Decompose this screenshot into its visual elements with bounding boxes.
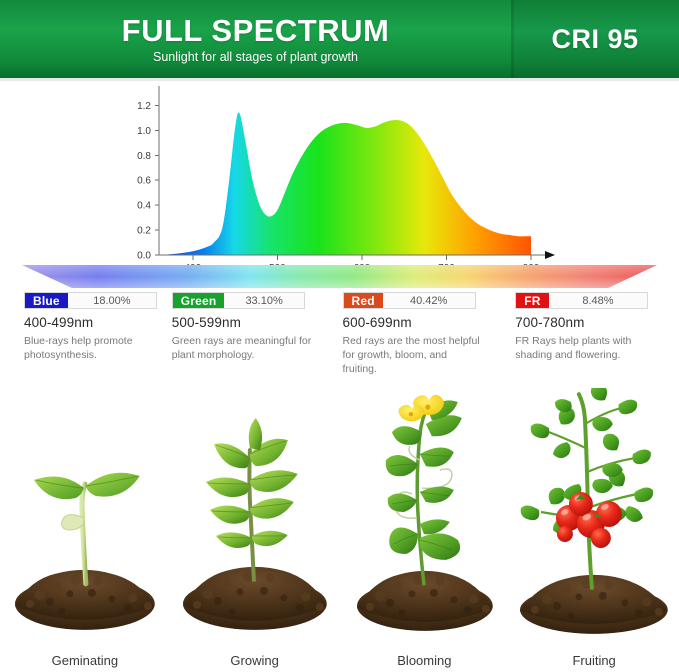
legend-item-red: Red 40.42% 600-699nm Red rays are the mo… (340, 292, 510, 372)
svg-text:0.2: 0.2 (137, 226, 151, 237)
legend-range-red: 600-699nm (343, 315, 510, 330)
svg-text:0.4: 0.4 (137, 201, 151, 212)
svg-text:1.2: 1.2 (137, 101, 151, 112)
growth-stages: Geminating (0, 378, 679, 672)
legend-badge-percent-blue: 18.00% (68, 293, 156, 308)
svg-text:0.6: 0.6 (137, 176, 151, 187)
growth-stage-fruiting: Fruiting (509, 378, 679, 672)
cri-badge: CRI 95 (511, 0, 679, 78)
legend-badge-red: Red 40.42% (343, 292, 476, 309)
legend-item-fr: FR 8.48% 700-780nm FR Rays help plants w… (509, 292, 679, 372)
legend-badge-name-fr: FR (516, 293, 548, 308)
page-title: FULL SPECTRUM (122, 15, 390, 46)
flowering-plant-illustration (340, 388, 510, 640)
legend-badge-percent-green: 33.10% (224, 293, 303, 308)
header-divider (0, 78, 679, 81)
spectrum-legend: Blue 18.00% 400-499nm Blue-rays help pro… (0, 292, 679, 372)
page-subtitle: Sunlight for all stages of plant growth (153, 51, 358, 64)
young-plant-illustration (170, 388, 340, 640)
growth-stage-label-growing: Growing (170, 653, 340, 668)
header-title-block: FULL SPECTRUM Sunlight for all stages of… (0, 0, 511, 78)
spectrum-chart-svg: 0.00.20.40.60.81.01.2400500600700800 (0, 84, 679, 284)
legend-description-blue: Blue-rays help promote photosynthesis. (24, 334, 164, 362)
legend-description-red: Red rays are the most helpful for growth… (343, 334, 483, 377)
legend-badge-name-green: Green (173, 293, 225, 308)
spectrum-strip-svg (0, 262, 679, 290)
legend-badge-fr: FR 8.48% (515, 292, 648, 309)
legend-description-fr: FR Rays help plants with shading and flo… (515, 334, 655, 362)
svg-text:0.0: 0.0 (137, 251, 151, 262)
legend-badge-percent-red: 40.42% (383, 293, 475, 308)
legend-badge-percent-fr: 8.48% (549, 293, 648, 308)
legend-badge-green: Green 33.10% (172, 292, 305, 309)
svg-text:0.8: 0.8 (137, 151, 151, 162)
flower (398, 405, 424, 422)
legend-item-blue: Blue 18.00% 400-499nm Blue-rays help pro… (0, 292, 170, 372)
growth-stage-geminating: Geminating (0, 378, 170, 672)
growth-stage-label-blooming: Blooming (340, 653, 510, 668)
spectrum-chart: 0.00.20.40.60.81.01.2400500600700800 (0, 84, 679, 284)
cri-label: CRI 95 (551, 24, 638, 55)
legend-range-green: 500-599nm (172, 315, 340, 330)
spectrum-strip (0, 262, 679, 290)
legend-badge-name-blue: Blue (25, 293, 68, 308)
growth-stage-growing: Growing (170, 378, 340, 672)
legend-badge-blue: Blue 18.00% (24, 292, 157, 309)
page-header: FULL SPECTRUM Sunlight for all stages of… (0, 0, 679, 78)
growth-stage-label-geminating: Geminating (0, 653, 170, 668)
legend-item-green: Green 33.10% 500-599nm Green rays are me… (170, 292, 340, 372)
legend-range-blue: 400-499nm (24, 315, 170, 330)
svg-text:1.0: 1.0 (137, 126, 151, 137)
growth-stage-blooming: Blooming (340, 378, 510, 672)
seedling-illustration (0, 388, 170, 640)
fruiting-plant-illustration (509, 388, 679, 640)
growth-stage-label-fruiting: Fruiting (509, 653, 679, 668)
legend-badge-name-red: Red (344, 293, 383, 308)
legend-range-fr: 700-780nm (515, 315, 679, 330)
legend-description-green: Green rays are meaningful for plant morp… (172, 334, 312, 362)
